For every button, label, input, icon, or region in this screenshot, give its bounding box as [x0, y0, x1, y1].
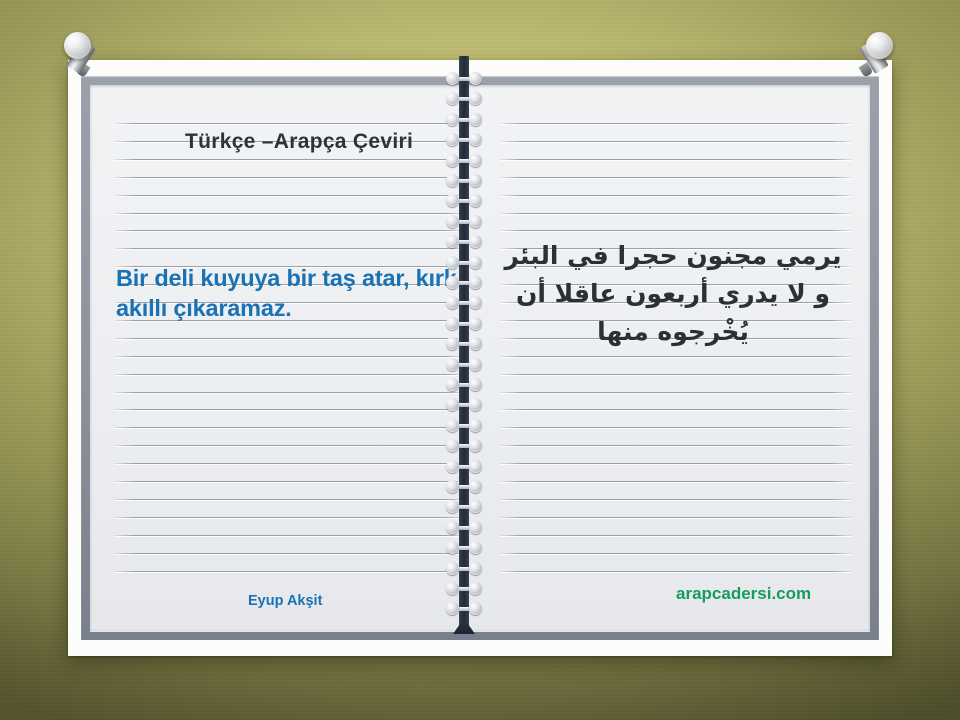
spiral-ring — [451, 460, 477, 473]
ruled-line — [500, 195, 852, 196]
ruled-line — [500, 535, 852, 536]
ruled-line — [500, 356, 852, 357]
spiral-spine-foot — [453, 622, 475, 634]
push-pin-icon-top-right — [848, 30, 900, 82]
ruled-line — [500, 517, 852, 518]
ruled-line — [114, 481, 466, 482]
ruled-line — [500, 230, 852, 231]
spiral-ring-knob-left — [446, 602, 459, 615]
spiral-ring-knob-left — [446, 174, 459, 187]
pin-head — [64, 32, 91, 59]
spiral-ring-knob-right — [469, 378, 482, 391]
slide-canvas: Türkçe –Arapça Çeviri Bir deli kuyuya bi… — [0, 0, 960, 720]
spiral-ring — [451, 317, 477, 330]
spiral-ring-knob-right — [469, 256, 482, 269]
spiral-ring-knob-right — [469, 113, 482, 126]
spiral-ring-knob-left — [446, 521, 459, 534]
spiral-ring-knob-left — [446, 439, 459, 452]
spiral-ring — [451, 296, 477, 309]
spiral-ring-knob-left — [446, 419, 459, 432]
ruled-line — [500, 392, 852, 393]
spiral-ring-knob-right — [469, 480, 482, 493]
ruled-line — [500, 177, 852, 178]
spiral-ring-knob-left — [446, 154, 459, 167]
ruled-line — [114, 427, 466, 428]
ruled-line — [114, 553, 466, 554]
spiral-ring — [451, 521, 477, 534]
spiral-ring — [451, 582, 477, 595]
spiral-ring — [451, 562, 477, 575]
ruled-line — [500, 409, 852, 410]
left-page: Türkçe –Arapça Çeviri Bir deli kuyuya bi… — [90, 85, 480, 631]
spiral-ring — [451, 602, 477, 615]
ruled-line — [114, 374, 466, 375]
ruled-line — [500, 141, 852, 142]
spiral-ring-knob-left — [446, 398, 459, 411]
spiral-ring-knob-left — [446, 92, 459, 105]
spiral-ring-knob-right — [469, 276, 482, 289]
spiral-ring — [451, 480, 477, 493]
ruled-line — [500, 463, 852, 464]
spiral-ring-knob-right — [469, 521, 482, 534]
spiral-ring — [451, 337, 477, 350]
spiral-ring — [451, 235, 477, 248]
spiral-ring-knob-left — [446, 296, 459, 309]
arabic-line-1: يرمي مجنون حجرا في البئر — [498, 237, 848, 275]
spiral-ring-knob-right — [469, 317, 482, 330]
spiral-ring-knob-left — [446, 72, 459, 85]
spiral-ring-knob-left — [446, 133, 459, 146]
spiral-ring-knob-left — [446, 500, 459, 513]
spiral-ring-knob-right — [469, 562, 482, 575]
ruled-line — [500, 123, 852, 124]
ruled-line — [114, 409, 466, 410]
ruled-line — [114, 571, 466, 572]
ruled-line — [114, 535, 466, 536]
push-pin-icon-top-left — [58, 30, 110, 82]
website-credit: arapcadersi.com — [676, 584, 811, 604]
spiral-ring — [451, 500, 477, 513]
ruled-line — [500, 374, 852, 375]
spiral-ring-knob-right — [469, 72, 482, 85]
spiral-ring — [451, 215, 477, 228]
ruled-line — [114, 230, 466, 231]
ruled-line — [114, 445, 466, 446]
spiral-ring-knob-left — [446, 235, 459, 248]
ruled-line — [114, 213, 466, 214]
spiral-ring-knob-right — [469, 582, 482, 595]
ruled-line — [500, 571, 852, 572]
spiral-ring-knob-left — [446, 215, 459, 228]
spiral-ring — [451, 439, 477, 452]
spiral-ring — [451, 541, 477, 554]
spiral-ring-knob-right — [469, 174, 482, 187]
ruled-line — [114, 248, 466, 249]
ruled-line — [114, 159, 466, 160]
spiral-ring-knob-right — [469, 358, 482, 371]
spiral-ring-knob-left — [446, 256, 459, 269]
ruled-line — [500, 499, 852, 500]
ruled-line — [500, 445, 852, 446]
spiral-ring-knob-right — [469, 215, 482, 228]
spiral-ring-knob-left — [446, 276, 459, 289]
spiral-ring-knob-left — [446, 317, 459, 330]
spiral-ring-knob-left — [446, 582, 459, 595]
spiral-ring-knob-right — [469, 154, 482, 167]
spiral-ring-knob-left — [446, 337, 459, 350]
pin-head — [866, 32, 893, 59]
ruled-line — [114, 463, 466, 464]
ruled-line — [114, 123, 466, 124]
spiral-ring-knob-right — [469, 419, 482, 432]
spiral-ring-knob-left — [446, 113, 459, 126]
spiral-ring — [451, 72, 477, 85]
turkish-proverb-text: Bir deli kuyuya bir taş atar, kırk akıll… — [116, 263, 468, 323]
spiral-ring-knob-left — [446, 562, 459, 575]
ruled-line — [114, 177, 466, 178]
spiral-ring-knob-left — [446, 460, 459, 473]
author-credit: Eyup Akşit — [248, 593, 322, 609]
spiral-binding — [451, 56, 477, 634]
arabic-line-2: و لا يدري أربعون عاقلا أن — [498, 275, 848, 313]
spiral-ring — [451, 276, 477, 289]
arabic-line-3: يُخْرجوه منها — [498, 313, 848, 351]
spiral-ring — [451, 378, 477, 391]
notebook: Türkçe –Arapça Çeviri Bir deli kuyuya bi… — [68, 60, 892, 656]
ruled-line — [500, 213, 852, 214]
right-page: يرمي مجنون حجرا في البئر و لا يدري أربعو… — [480, 85, 870, 631]
spiral-ring — [451, 194, 477, 207]
ruled-line — [114, 517, 466, 518]
spiral-ring — [451, 398, 477, 411]
ruled-line — [114, 392, 466, 393]
ruled-line — [500, 427, 852, 428]
ruled-line — [500, 481, 852, 482]
spiral-ring-knob-right — [469, 460, 482, 473]
spiral-ring — [451, 419, 477, 432]
spiral-ring-knob-left — [446, 194, 459, 207]
spiral-ring — [451, 92, 477, 105]
spiral-ring — [451, 113, 477, 126]
spiral-ring — [451, 174, 477, 187]
spiral-ring — [451, 133, 477, 146]
spiral-ring-knob-left — [446, 358, 459, 371]
ruled-line — [500, 159, 852, 160]
ruled-line — [114, 195, 466, 196]
spiral-ring-knob-left — [446, 378, 459, 391]
arabic-proverb-text: يرمي مجنون حجرا في البئر و لا يدري أربعو… — [498, 237, 848, 351]
ruled-line — [500, 553, 852, 554]
ruled-line — [114, 499, 466, 500]
spiral-ring — [451, 154, 477, 167]
spiral-ring — [451, 256, 477, 269]
page-title: Türkçe –Arapça Çeviri — [185, 130, 413, 154]
spiral-ring-knob-left — [446, 541, 459, 554]
turkish-line-1: Bir deli kuyuya bir taş atar, — [116, 265, 409, 291]
ruled-line — [114, 338, 466, 339]
spiral-ring — [451, 358, 477, 371]
spiral-ring-knob-left — [446, 480, 459, 493]
ruled-line — [114, 356, 466, 357]
